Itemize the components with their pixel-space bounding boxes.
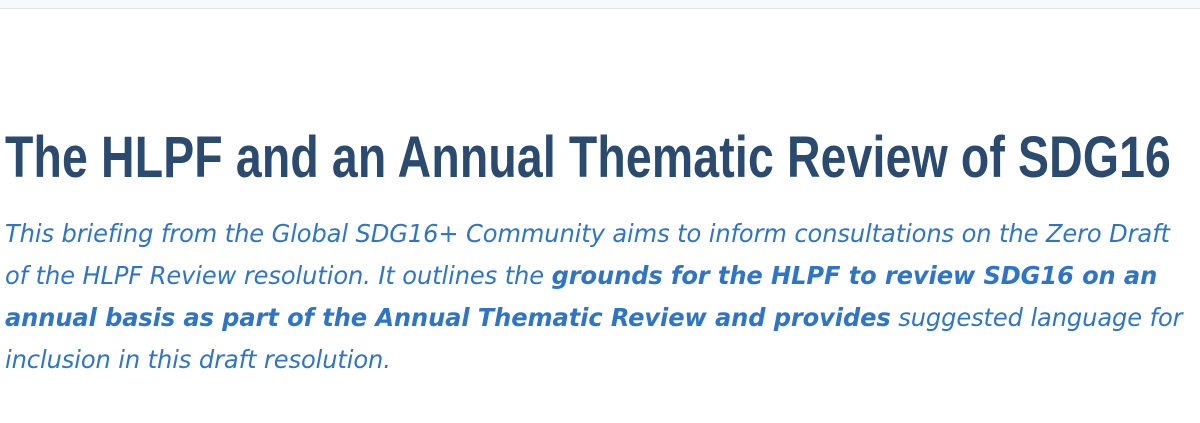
document-page: The HLPF and an Annual Thematic Review o… — [0, 0, 1200, 423]
top-strip — [0, 0, 1200, 9]
document-content: The HLPF and an Annual Thematic Review o… — [0, 10, 1200, 423]
page-title: The HLPF and an Annual Thematic Review o… — [5, 127, 1171, 189]
lede-paragraph: This briefing from the Global SDG16+ Com… — [5, 213, 1192, 381]
